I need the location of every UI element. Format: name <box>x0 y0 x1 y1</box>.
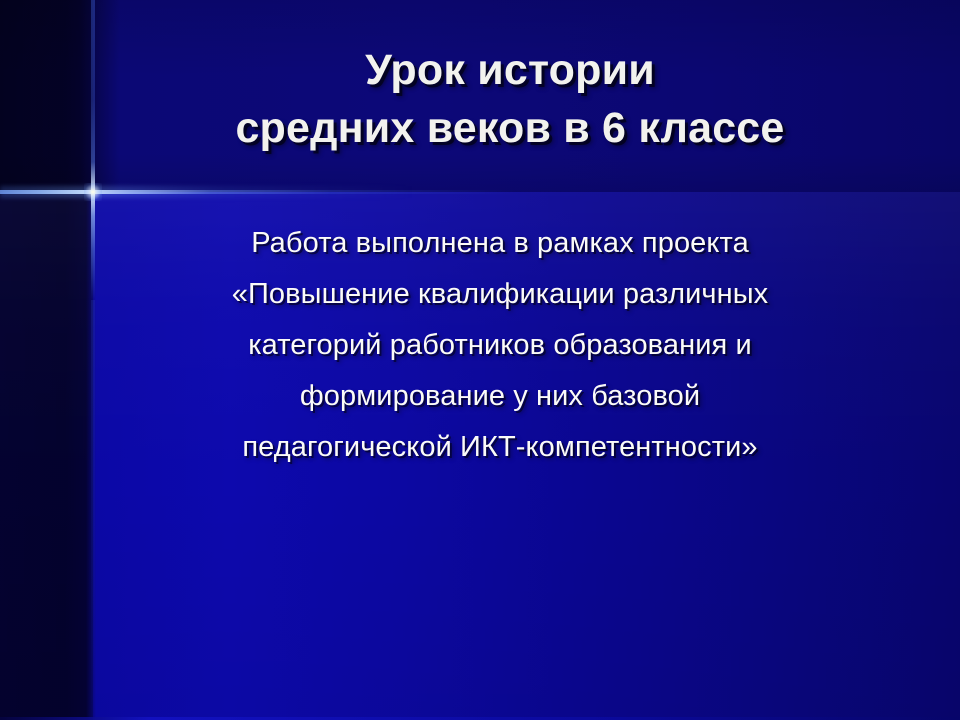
slide-body-line-3: категорий работников образования и <box>150 320 850 371</box>
slide-title-line-1: Урок истории <box>60 42 960 100</box>
cross-accent-icon-horizontal <box>0 190 520 194</box>
slide-body-line-2: «Повышение квалификации различных <box>150 269 850 320</box>
slide-title: Урок истории средних веков в 6 классе <box>60 42 960 157</box>
slide-title-line-2: средних веков в 6 классе <box>60 100 960 158</box>
presentation-slide: Урок истории средних веков в 6 классе Ра… <box>0 0 960 720</box>
cross-accent-icon-center <box>84 183 102 201</box>
slide-body: Работа выполнена в рамках проекта «Повыш… <box>150 218 850 473</box>
cross-accent-icon-vertical-tail <box>91 300 95 720</box>
slide-body-line-1: Работа выполнена в рамках проекта <box>150 218 850 269</box>
slide-body-line-5: педагогической ИКТ-компетентности» <box>150 422 850 473</box>
slide-body-line-4: формирование у них базовой <box>150 371 850 422</box>
